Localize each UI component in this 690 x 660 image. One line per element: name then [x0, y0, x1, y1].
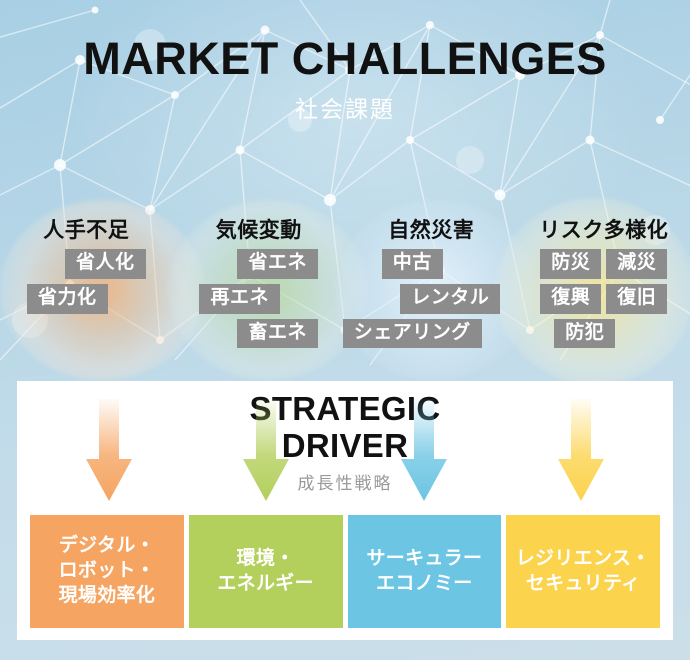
driver-box-environment[interactable]: 環境・ エネルギー — [189, 515, 343, 628]
tag-row: 省エネ — [173, 249, 346, 279]
driver-box-resilience-security[interactable]: レジリエンス・ セキュリティ — [506, 515, 660, 628]
challenge-tag[interactable]: シェアリング — [343, 319, 482, 349]
challenge-column-2: 気候変動 省エネ 再エネ 畜エネ — [173, 214, 346, 374]
challenge-tag[interactable]: レンタル — [400, 284, 500, 314]
challenge-title: リスク多様化 — [539, 214, 668, 244]
driver-line: ロボット・ — [59, 559, 156, 584]
tag-row: 畜エネ — [173, 319, 346, 349]
challenge-column-1: 人手不足 省人化 省力化 — [0, 214, 173, 374]
challenge-tag[interactable]: 再エネ — [199, 284, 280, 314]
challenge-tag-list: 省エネ 再エネ 畜エネ — [173, 249, 346, 348]
challenge-tag[interactable]: 防犯 — [554, 319, 615, 349]
challenge-title: 人手不足 — [43, 214, 129, 244]
arrow-slot-2 — [188, 399, 346, 509]
challenge-tag-list: 省人化 省力化 — [0, 249, 173, 314]
arrow-down-icon — [401, 399, 447, 501]
driver-line: レジリエンス・ — [516, 547, 651, 572]
challenge-title: 自然災害 — [388, 214, 474, 244]
tag-row: 防災 減災 — [518, 249, 690, 279]
tag-row: 省力化 — [0, 284, 173, 314]
driver-arrows — [30, 399, 660, 509]
challenge-tag[interactable]: 中古 — [382, 249, 443, 279]
challenge-tag[interactable]: 省エネ — [237, 249, 318, 279]
challenge-column-3: 自然災害 中古 レンタル シェアリング — [345, 214, 518, 374]
arrow-slot-1 — [30, 399, 188, 509]
arrow-down-icon — [558, 399, 604, 501]
driver-line: デジタル・ — [59, 534, 155, 559]
driver-line: 現場効率化 — [59, 584, 156, 609]
page-title-en: MARKET CHALLENGES — [0, 34, 690, 84]
challenge-tag[interactable]: 畜エネ — [237, 319, 318, 349]
challenge-tag-list: 防災 減災 復興 復旧 防犯 — [518, 249, 690, 348]
arrow-down-icon — [86, 399, 132, 501]
tag-row: 復興 復旧 — [518, 284, 690, 314]
tag-row: 中古 — [345, 249, 518, 279]
challenge-tag[interactable]: 減災 — [606, 249, 667, 279]
challenge-tag[interactable]: 復興 — [540, 284, 601, 314]
driver-line: エコノミー — [376, 572, 473, 597]
driver-line: セキュリティ — [526, 572, 641, 597]
challenge-tag-list: 中古 レンタル シェアリング — [345, 249, 518, 348]
tag-row: 省人化 — [0, 249, 173, 279]
driver-box-circular-economy[interactable]: サーキュラー エコノミー — [348, 515, 502, 628]
page-title-jp: 社会課題 — [0, 90, 690, 124]
page-header: MARKET CHALLENGES 社会課題 — [0, 0, 690, 124]
challenge-tag[interactable]: 防災 — [540, 249, 601, 279]
challenge-columns: 人手不足 省人化 省力化 気候変動 省エネ 再エネ 畜エネ — [0, 214, 690, 374]
challenge-column-4: リスク多様化 防災 減災 復興 復旧 防犯 — [518, 214, 690, 374]
challenge-tag[interactable]: 省人化 — [65, 249, 146, 279]
driver-box-digital[interactable]: デジタル・ ロボット・ 現場効率化 — [30, 515, 184, 628]
tag-row: 再エネ — [173, 284, 346, 314]
driver-line: エネルギー — [217, 572, 314, 597]
challenge-tag[interactable]: 省力化 — [27, 284, 108, 314]
infographic-root: MARKET CHALLENGES 社会課題 人手不足 省人化 省力化 気候変動… — [0, 0, 690, 660]
challenge-tag[interactable]: 復旧 — [606, 284, 667, 314]
driver-boxes: デジタル・ ロボット・ 現場効率化 環境・ エネルギー サーキュラー エコノミー… — [30, 515, 660, 628]
tag-row: 防犯 — [518, 319, 690, 349]
driver-line: サーキュラー — [366, 547, 482, 572]
tag-row: レンタル — [345, 284, 518, 314]
tag-row: シェアリング — [345, 319, 518, 349]
arrow-down-icon — [243, 399, 289, 501]
challenge-title: 気候変動 — [216, 214, 302, 244]
driver-line: 環境・ — [237, 547, 295, 572]
arrow-slot-3 — [345, 399, 503, 509]
strategic-driver-panel: STRATEGIC DRIVER 成長性戦略 — [17, 381, 673, 640]
arrow-slot-4 — [503, 399, 661, 509]
